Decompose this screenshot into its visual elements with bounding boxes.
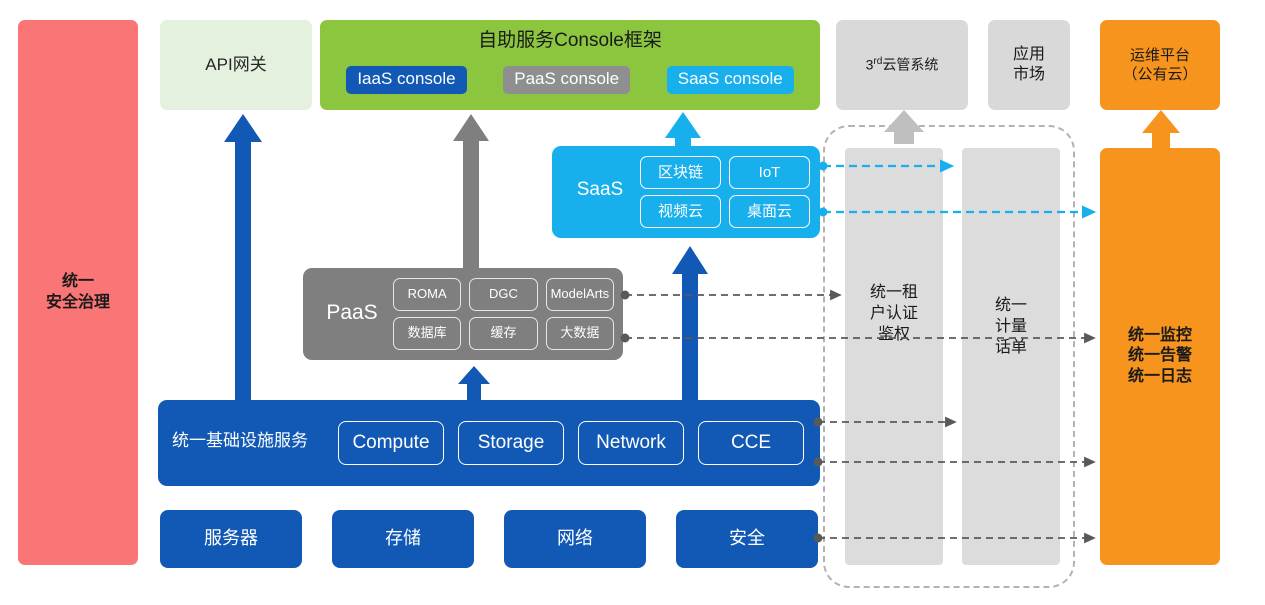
third-party-label: 3rd云管系统	[866, 56, 939, 75]
saas-label: SaaS	[564, 178, 636, 202]
arrow-infra-to-paas	[458, 366, 490, 403]
paas-item-grid: ROMA DGC ModelArts 数据库 缓存 大数据	[393, 278, 614, 350]
saas-item-desktop-cloud[interactable]: 桌面云	[729, 195, 810, 228]
paas-item-database[interactable]: 数据库	[393, 317, 461, 350]
app-market-box: 应用 市场	[988, 20, 1070, 110]
saas-item-video-cloud[interactable]: 视频云	[640, 195, 721, 228]
infra-item-storage[interactable]: Storage	[458, 421, 564, 465]
hardware-label-server: 服务器	[204, 527, 258, 550]
chip-iaas-console[interactable]: IaaS console	[346, 66, 466, 94]
arrow-ops-column-to-platform	[1142, 110, 1180, 148]
arrow-infra-to-api-gateway	[224, 114, 262, 408]
architecture-diagram: 统一 安全治理 API网关 自助服务Console框架 IaaS console…	[0, 0, 1265, 605]
console-frame-title: 自助服务Console框架	[320, 29, 820, 53]
saas-item-blockchain[interactable]: 区块链	[640, 156, 721, 189]
arrow-infra-to-saas	[672, 246, 708, 408]
hardware-label-security: 安全	[729, 527, 765, 550]
paas-item-bigdata[interactable]: 大数据	[546, 317, 614, 350]
chip-saas-console[interactable]: SaaS console	[667, 66, 794, 94]
dashed-paas-to-auth	[621, 291, 841, 300]
hardware-label-network: 网络	[557, 527, 593, 550]
governance-label: 统一 安全治理	[46, 272, 110, 313]
paas-item-dgc[interactable]: DGC	[469, 278, 537, 311]
api-gateway-label: API网关	[205, 54, 266, 76]
paas-item-cache[interactable]: 缓存	[469, 317, 537, 350]
paas-item-roma[interactable]: ROMA	[393, 278, 461, 311]
ops-platform-label: 运维平台 （公有云）	[1122, 46, 1197, 84]
hardware-item-storage[interactable]: 存储	[332, 510, 474, 568]
api-gateway-box: API网关	[160, 20, 312, 110]
chip-paas-console[interactable]: PaaS console	[503, 66, 630, 94]
hardware-item-server[interactable]: 服务器	[160, 510, 302, 568]
unified-metering-label: 统一 计量 话单	[962, 296, 1060, 358]
infra-item-network[interactable]: Network	[578, 421, 684, 465]
hardware-item-security[interactable]: 安全	[676, 510, 818, 568]
infrastructure-label: 统一基础设施服务	[172, 430, 308, 452]
arrow-saas-to-console	[665, 112, 701, 150]
paas-item-modelarts[interactable]: ModelArts	[546, 278, 614, 311]
saas-item-iot[interactable]: IoT	[729, 156, 810, 189]
infra-item-compute[interactable]: Compute	[338, 421, 444, 465]
unified-auth-column	[845, 148, 943, 565]
paas-panel: PaaS ROMA DGC ModelArts 数据库 缓存 大数据	[303, 268, 623, 360]
paas-label: PaaS	[313, 300, 391, 327]
arrow-paas-to-console	[453, 114, 489, 270]
saas-item-grid: 区块链 IoT 视频云 桌面云	[640, 156, 810, 228]
self-service-console-frame: 自助服务Console框架 IaaS console PaaS console …	[320, 20, 820, 110]
third-party-cloud-mgmt-box: 3rd云管系统	[836, 20, 968, 110]
unified-auth-label: 统一租 户认证 鉴权	[845, 283, 943, 345]
ops-capabilities-label: 统一监控 统一告警 统一日志	[1128, 326, 1192, 387]
app-market-label: 应用 市场	[1013, 45, 1045, 86]
ops-platform-box: 运维平台 （公有云）	[1100, 20, 1220, 110]
ops-capabilities-column: 统一监控 统一告警 统一日志	[1100, 148, 1220, 565]
saas-panel: SaaS 区块链 IoT 视频云 桌面云	[552, 146, 820, 238]
console-chip-row: IaaS console PaaS console SaaS console	[320, 63, 820, 97]
hardware-label-storage: 存储	[385, 527, 421, 550]
hardware-item-network[interactable]: 网络	[504, 510, 646, 568]
infrastructure-item-row: Compute Storage Network CCE	[338, 422, 804, 464]
infra-item-cce[interactable]: CCE	[698, 421, 804, 465]
unified-security-governance-column: 统一 安全治理	[18, 20, 138, 565]
unified-infrastructure-bar: 统一基础设施服务 Compute Storage Network CCE	[158, 400, 820, 486]
